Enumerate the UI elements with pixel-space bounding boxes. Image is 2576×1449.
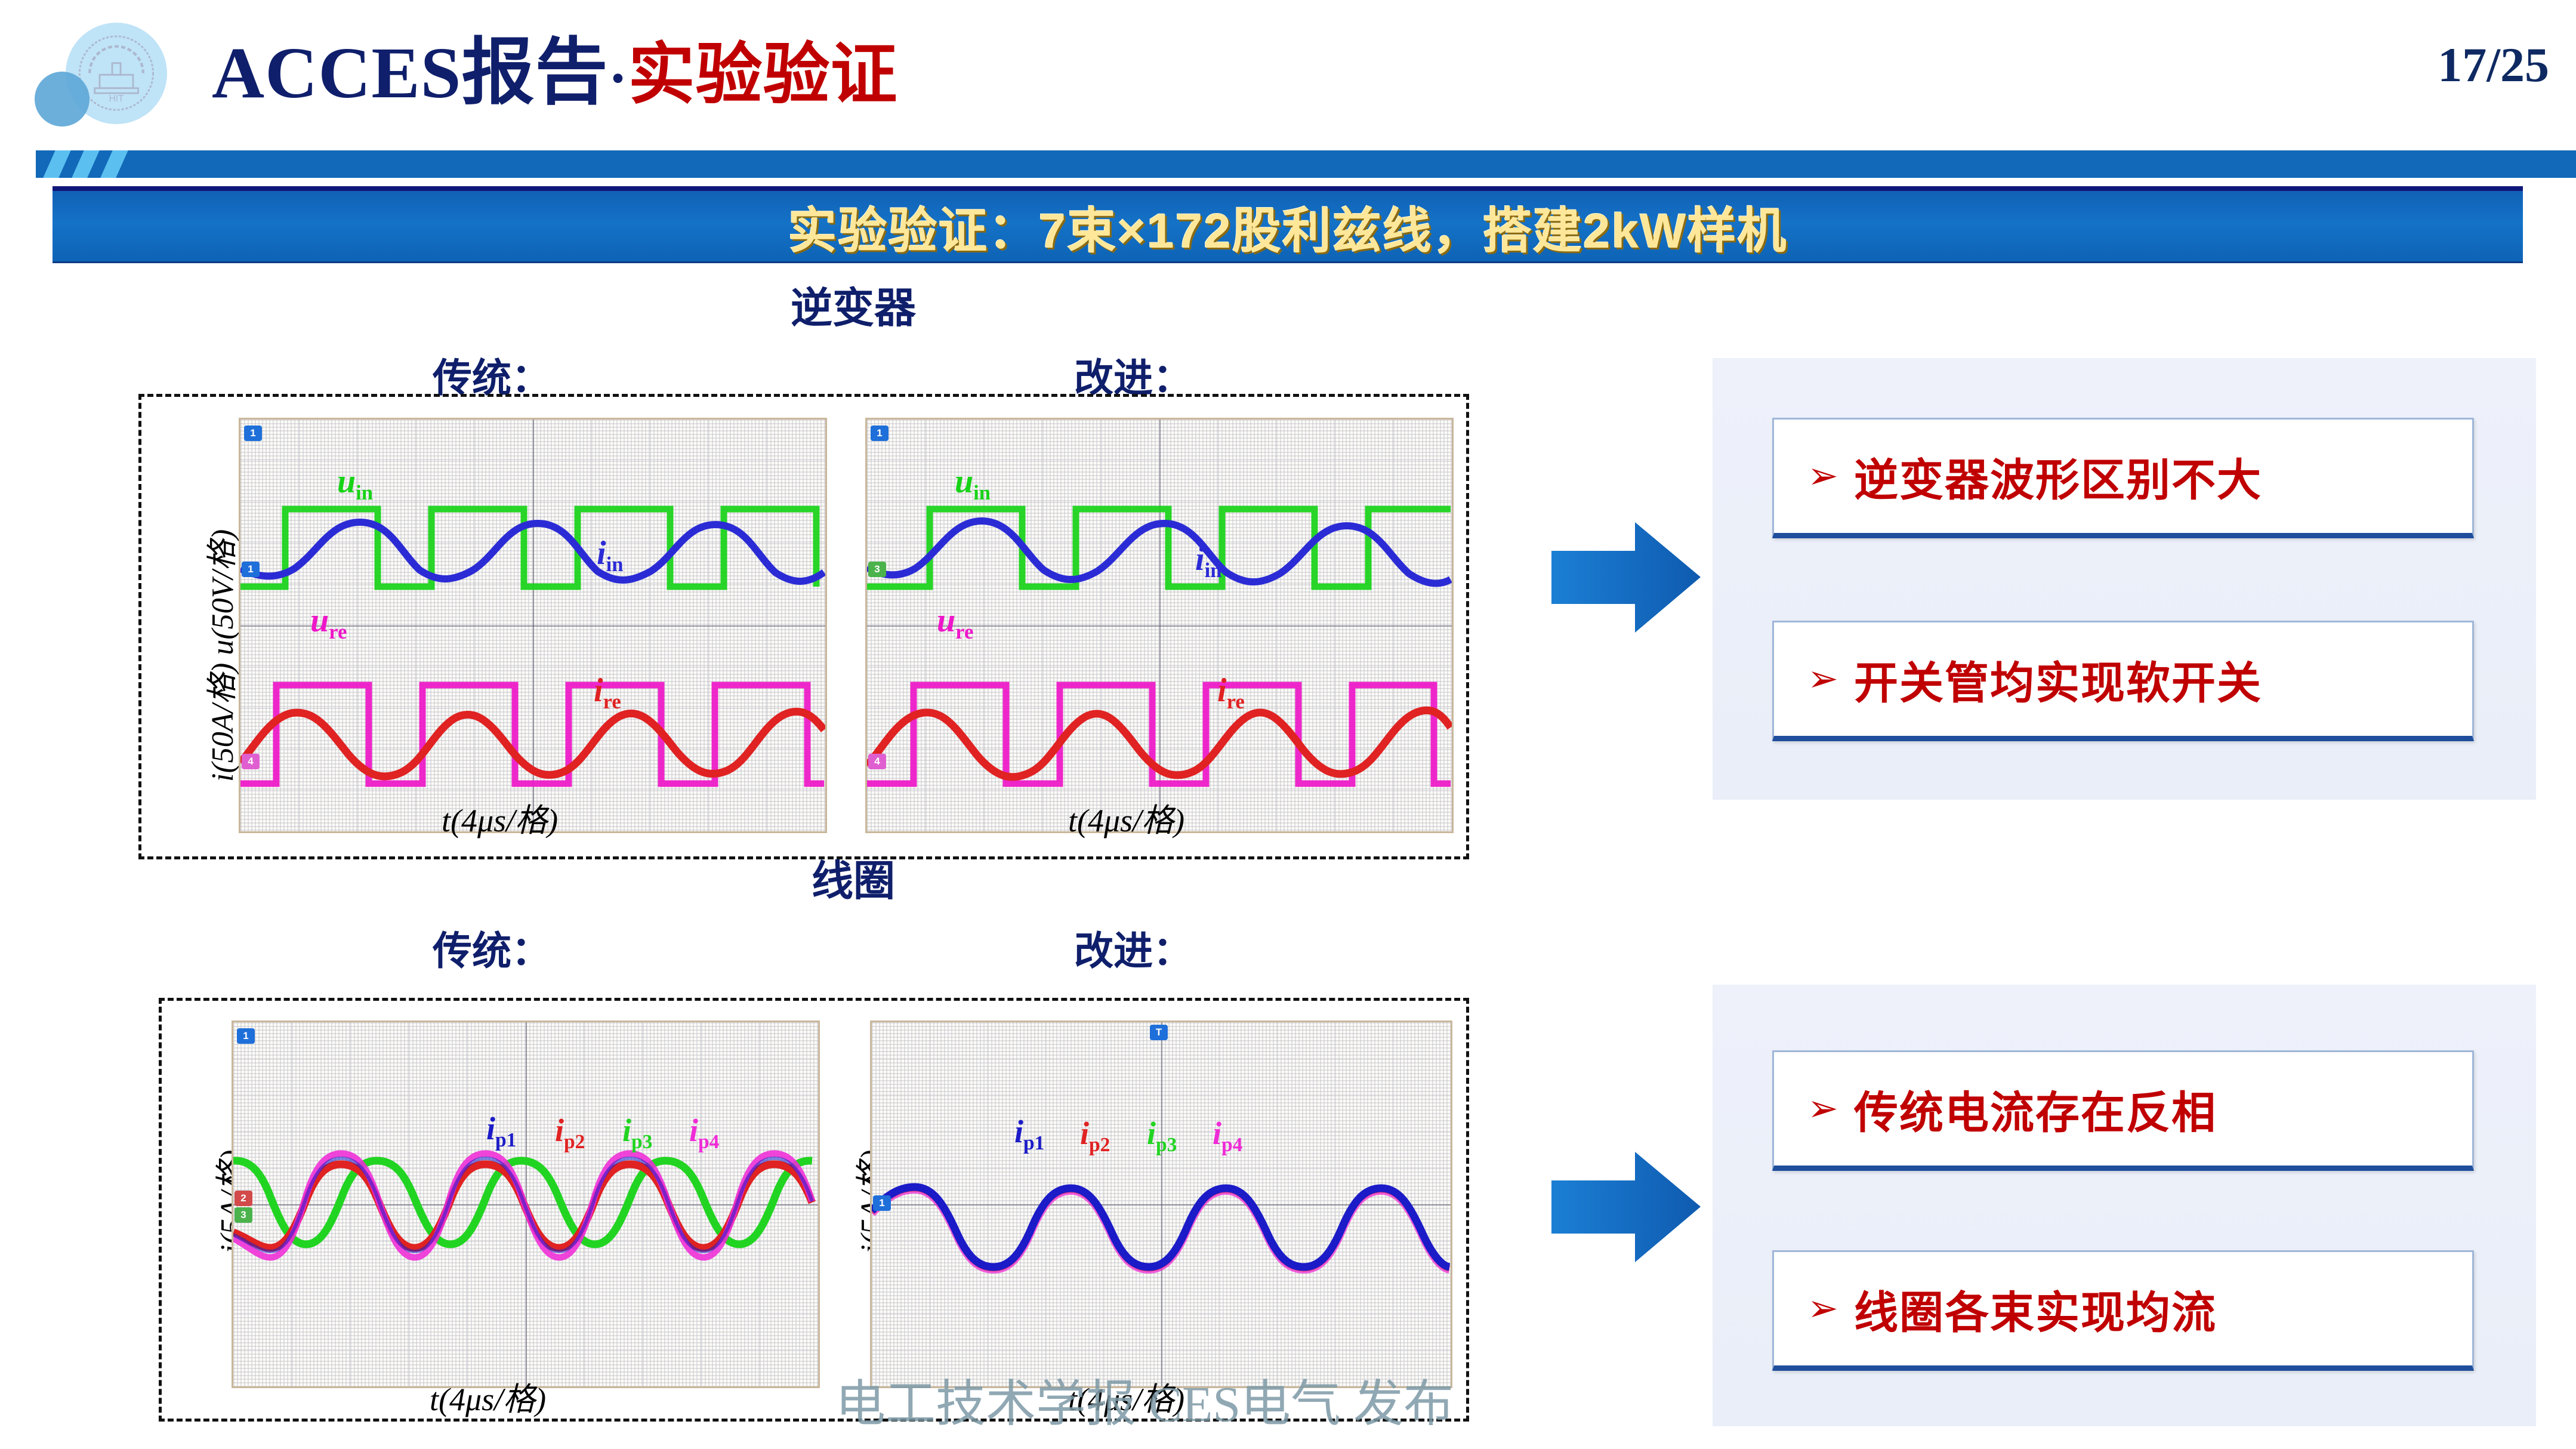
scope-coil-legacy: 1 2 3	[232, 1021, 820, 1388]
channel-marker-4: 4	[868, 754, 886, 769]
logo-circle-small	[35, 72, 90, 127]
channel-marker-trigger: T	[1150, 1025, 1168, 1040]
callout-top-2-text: 开关管均实现软开关	[1854, 648, 2262, 711]
channel-marker-1: 1	[237, 1028, 255, 1044]
callout-bottom-2[interactable]: ➢ 线圈各束实现均流	[1772, 1250, 2474, 1371]
header-stripes-decoration	[43, 150, 150, 178]
trace-label-ip1-improved: ip1	[1014, 1113, 1044, 1155]
channel-marker-3: 3	[868, 562, 886, 577]
subheading-coil-improved: 改进：	[1074, 919, 1192, 976]
header-accent-bar	[36, 150, 2576, 178]
scope-traces	[233, 1022, 818, 1386]
trace-label-ip4-legacy: ip4	[689, 1112, 719, 1154]
channel-marker-1: 1	[873, 1195, 891, 1211]
trace-label-ire-improved: ire	[1217, 671, 1245, 714]
channel-marker-2: 2	[235, 1191, 252, 1206]
trace-label-uin-improved: uin	[955, 463, 991, 505]
watermark-text: 电工技术学报 CES电气 发布	[835, 1364, 1454, 1436]
callout-top-1-text: 逆变器波形区别不大	[1854, 445, 2262, 508]
trace-label-ip4-improved: ip4	[1213, 1115, 1242, 1157]
callout-bottom-1-text: 传统电流存在反相	[1854, 1077, 2217, 1141]
callout-top-1[interactable]: ➢ 逆变器波形区别不大	[1772, 418, 2474, 538]
trace-label-ip3-improved: ip3	[1147, 1115, 1177, 1157]
title-red-part: 实验验证	[628, 37, 898, 112]
title-separator: ·	[609, 46, 628, 110]
trace-label-ip1-legacy: ip1	[486, 1110, 516, 1152]
bullet-icon: ➢	[1807, 458, 1838, 495]
channel-marker-1: 1	[871, 426, 889, 441]
inverter-legacy-x-axis-label: t(4μs/格)	[442, 794, 558, 841]
bullet-icon: ➢	[1807, 661, 1838, 698]
arrow-right-icon-top	[1551, 522, 1701, 633]
channel-marker-1: 1	[244, 426, 262, 441]
scope-traces	[872, 1022, 1451, 1386]
trace-label-ure-legacy: ure	[310, 602, 347, 644]
trace-label-ip2-legacy: ip2	[555, 1112, 585, 1154]
bullet-icon: ➢	[1807, 1290, 1838, 1327]
callout-top-2[interactable]: ➢ 开关管均实现软开关	[1772, 621, 2474, 741]
subheading-coil-legacy: 传统：	[433, 919, 551, 976]
banner-text: 实验验证：7束×172股利兹线，搭建2kW样机	[788, 191, 1788, 262]
section-heading-inverter: 逆变器	[791, 275, 916, 335]
title-blue-part: ACCES报告	[212, 33, 609, 113]
hit-university-crest-logo: HIT	[18, 17, 146, 136]
callout-bottom-1[interactable]: ➢ 传统电流存在反相	[1772, 1050, 2474, 1171]
section-heading-coil: 线圈	[812, 847, 895, 908]
bullet-icon: ➢	[1807, 1090, 1838, 1127]
page-number: 17/25	[2438, 37, 2549, 93]
arrow-right-icon-bottom	[1551, 1152, 1701, 1262]
callout-bottom-2-text: 线圈各束实现均流	[1854, 1277, 2217, 1341]
channel-marker-4: 4	[242, 754, 260, 769]
trace-label-iin-legacy: iin	[597, 534, 624, 576]
scope-coil-improved: T 1	[870, 1021, 1452, 1388]
trace-label-ip2-improved: ip2	[1080, 1115, 1110, 1157]
page-title: ACCES报告·实验验证	[212, 13, 898, 119]
trace-label-ire-legacy: ire	[594, 671, 621, 714]
inverter-y-axis-label: i(50A/格) u(50V/格)	[197, 529, 242, 782]
trace-label-ure-improved: ure	[937, 602, 973, 644]
trace-label-ip3-legacy: ip3	[622, 1112, 652, 1154]
channel-marker-ref-1: 1	[242, 562, 260, 577]
inverter-improved-x-axis-label: t(4μs/格)	[1068, 794, 1184, 841]
channel-marker-3: 3	[235, 1207, 252, 1223]
trace-label-iin-improved: iin	[1195, 540, 1222, 582]
coil-legacy-x-axis-label: t(4μs/格)	[430, 1373, 546, 1420]
slide-banner: 实验验证：7束×172股利兹线，搭建2kW样机	[53, 186, 2523, 263]
svg-text:HIT: HIT	[109, 94, 124, 104]
trace-label-uin-legacy: uin	[337, 463, 373, 505]
